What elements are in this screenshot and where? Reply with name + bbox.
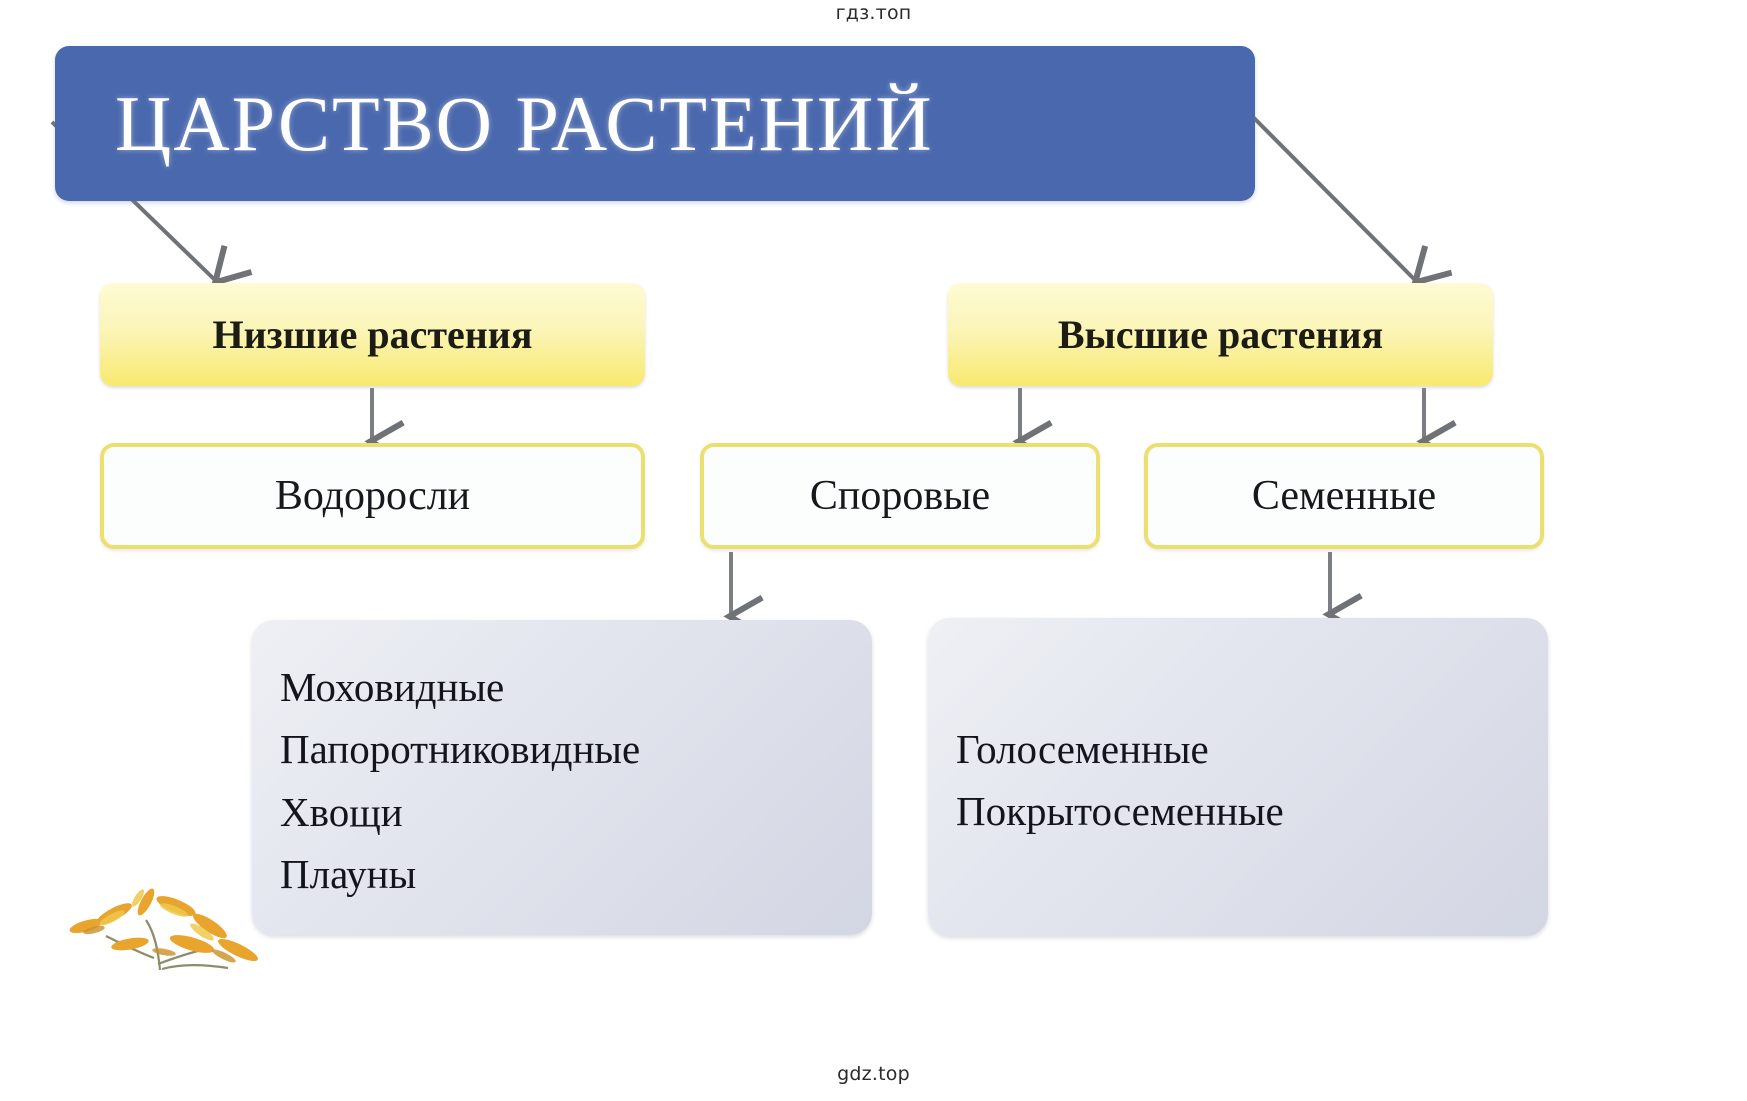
list-item: Плауны (280, 843, 640, 905)
watermark-top: гдз.топ (0, 2, 1747, 24)
node-higher-plants: Высшие растения (948, 283, 1493, 386)
algae-plant-illustration (42, 840, 272, 970)
node-higher-plants-label: Высшие растения (1058, 311, 1383, 358)
group-seed-divisions: Голосеменные Покрытосеменные (928, 618, 1548, 936)
list-item: Хвощи (280, 781, 640, 843)
kingdom-title-box: ЦАРСТВО РАСТЕНИЙ (55, 46, 1255, 201)
diagram-canvas: гдз.топ ЦАРСТВО РАСТЕНИЙ Низшие растения… (0, 0, 1747, 1101)
group-spore-divisions: Моховидные Папоротниковидные Хвощи Плаун… (252, 620, 872, 935)
node-seed-bearing-label: Семенные (1252, 472, 1436, 520)
node-spore-bearing-label: Споровые (810, 472, 990, 520)
node-seed-bearing: Семенные (1144, 443, 1544, 549)
node-algae: Водоросли (100, 443, 645, 549)
watermark-bottom: gdz.top (0, 1063, 1747, 1085)
node-algae-label: Водоросли (275, 472, 470, 520)
list-item: Голосеменные (956, 718, 1284, 780)
list-item: Покрытосеменные (956, 780, 1284, 842)
list-item: Папоротниковидные (280, 718, 640, 780)
node-lower-plants: Низшие растения (100, 283, 645, 386)
spore-division-list: Моховидные Папоротниковидные Хвощи Плаун… (280, 656, 640, 905)
node-lower-plants-label: Низшие растения (213, 311, 533, 358)
list-item: Моховидные (280, 656, 640, 718)
seed-division-list: Голосеменные Покрытосеменные (956, 718, 1284, 843)
arrow-title-to-higher (1253, 117, 1416, 281)
node-spore-bearing: Споровые (700, 443, 1100, 549)
page-title: ЦАРСТВО РАСТЕНИЙ (115, 85, 934, 163)
